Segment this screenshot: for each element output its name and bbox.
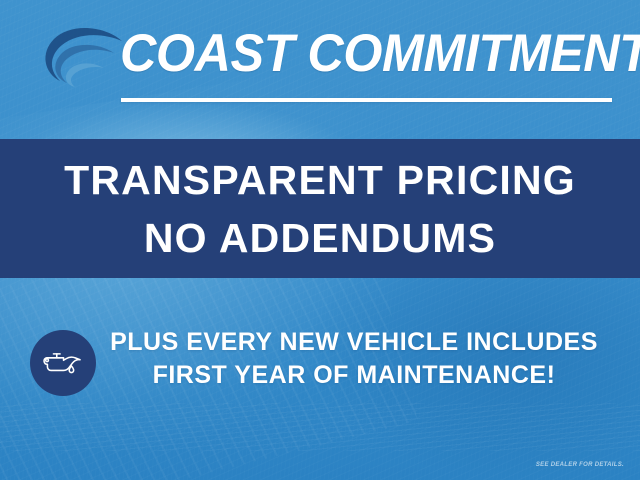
promo-row: PLUS EVERY NEW VEHICLE INCLUDES FIRST YE… — [0, 300, 640, 410]
coast-commitment-banner: COAST COMMITMENT TRANSPARENT PRICING NO … — [0, 0, 640, 480]
page-title: COAST COMMITMENT — [120, 20, 591, 88]
oil-can-badge — [30, 330, 96, 396]
promise-band: TRANSPARENT PRICING NO ADDENDUMS — [0, 139, 640, 278]
foam-line-texture — [0, 403, 640, 451]
header-divider — [121, 98, 612, 102]
promise-line-transparent-pricing: TRANSPARENT PRICING — [64, 151, 576, 209]
promo-text-block: PLUS EVERY NEW VEHICLE INCLUDES FIRST YE… — [104, 326, 604, 392]
promise-line-no-addendums: NO ADDENDUMS — [144, 209, 496, 267]
disclaimer-text: SEE DEALER FOR DETAILS. — [536, 462, 624, 468]
oil-can-icon — [41, 346, 85, 381]
banner-header: COAST COMMITMENT — [0, 0, 640, 139]
wave-swoosh-icon — [34, 23, 126, 99]
promo-line-first-year-maintenance: FIRST YEAR OF MAINTENANCE! — [104, 359, 604, 392]
promo-line-every-new-vehicle: PLUS EVERY NEW VEHICLE INCLUDES — [104, 326, 604, 359]
